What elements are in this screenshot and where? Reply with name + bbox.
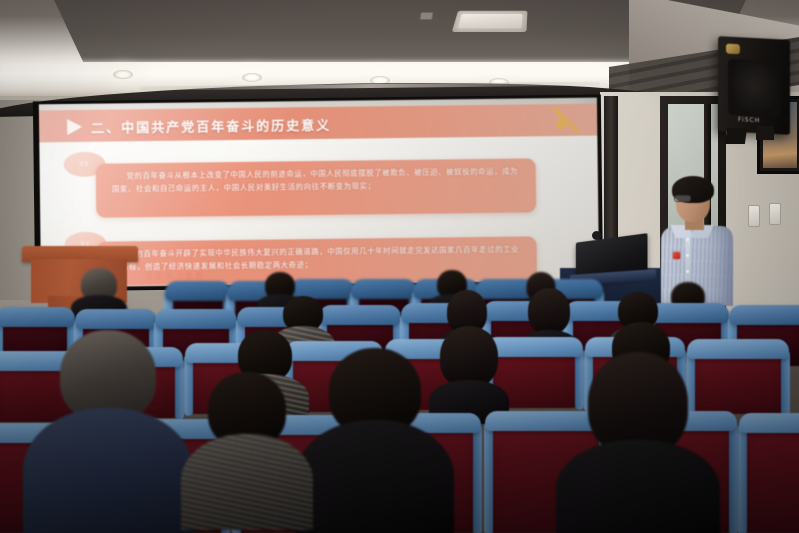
downlight-icon — [113, 70, 133, 79]
triangle-bullet-icon — [67, 119, 82, 135]
audience-person-foreground — [28, 330, 188, 533]
seat[interactable] — [744, 418, 799, 533]
downlight-icon — [242, 73, 262, 82]
ceiling-sensor — [419, 12, 433, 20]
ceiling-air-vent — [452, 11, 528, 32]
glasses-icon — [674, 195, 691, 202]
light-switch[interactable] — [769, 203, 781, 225]
audience-person-foreground — [184, 372, 310, 533]
audience-person-foreground — [560, 352, 716, 533]
wall-speaker: FiSCH — [718, 36, 790, 135]
speaker-cone-icon — [728, 59, 780, 118]
audience-person-foreground — [300, 348, 450, 533]
speaker-mount-bracket — [725, 128, 747, 144]
speaker-mount-bracket — [756, 126, 774, 140]
slide-title: 二、中国共产党百年奋斗的历史意义 — [91, 115, 331, 137]
speaker-brand-text: FiSCH — [738, 116, 760, 124]
light-switch[interactable] — [748, 205, 760, 227]
slide-paragraph: 党的百年奋斗开辟了实现中华民族伟大复兴的正确道路，中国仅用几十年时间就走完发达国… — [97, 236, 537, 274]
slide-paragraph: 党的百年奋斗从根本上改变了中国人民的前途命运，中国人民彻底摆脱了被欺负、被压迫、… — [96, 158, 536, 196]
party-pin-badge — [673, 252, 680, 259]
speaker-brand-badge — [726, 44, 740, 55]
slide-text-block: 党的百年奋斗从根本上改变了中国人民的前途命运，中国人民彻底摆脱了被欺负、被压迫、… — [96, 158, 537, 217]
conference-hall-photo: FiSCH 二、中国共产党百年奋斗的历史意义 01 党的百年奋斗从根本上改变了中… — [0, 0, 799, 533]
